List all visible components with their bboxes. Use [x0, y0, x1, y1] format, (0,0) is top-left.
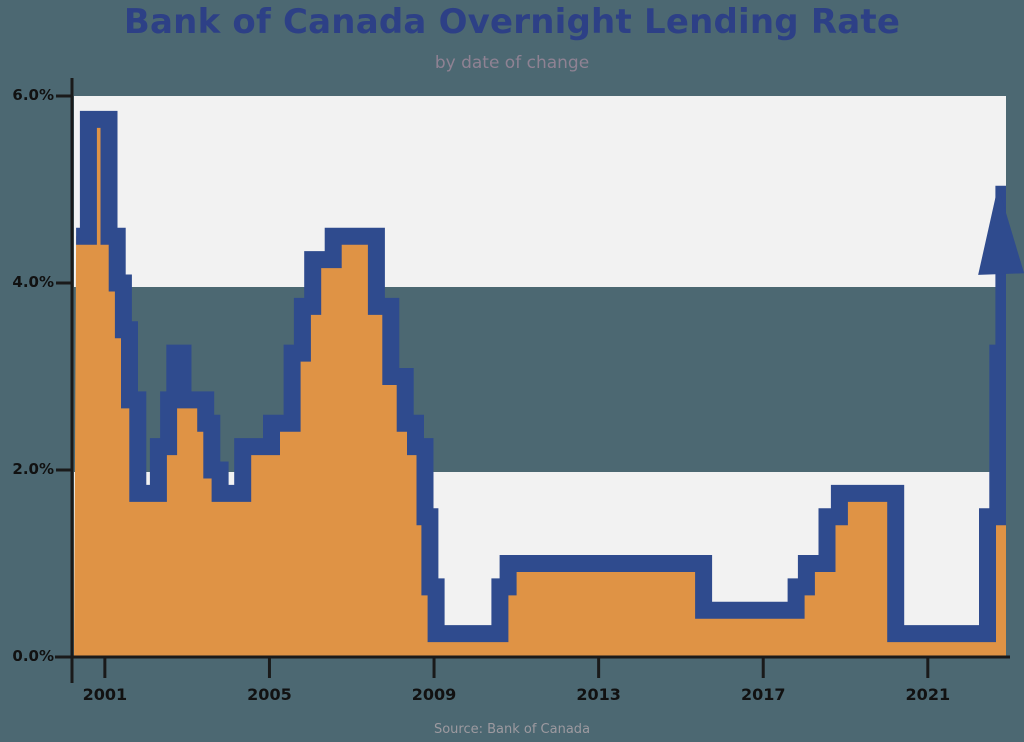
chart-plot-area — [0, 0, 1024, 742]
y-axis-tick-label: 6.0% — [0, 86, 54, 104]
x-tick-marks — [105, 657, 928, 678]
y-axis-tick-label: 0.0% — [0, 647, 54, 665]
y-axis-tick-label: 2.0% — [0, 460, 54, 478]
x-axis-tick-label: 2001 — [70, 685, 140, 704]
x-axis-tick-label: 2005 — [234, 685, 304, 704]
y-tick-marks — [56, 96, 72, 657]
x-axis-tick-label: 2017 — [728, 685, 798, 704]
source-note: Source: Bank of Canada — [0, 722, 1024, 737]
y-axis-tick-label: 4.0% — [0, 273, 54, 291]
chart-container: Bank of Canada Overnight Lending Rate by… — [0, 0, 1024, 742]
x-axis-tick-label: 2021 — [893, 685, 963, 704]
x-axis-tick-label: 2009 — [399, 685, 469, 704]
x-axis-tick-label: 2013 — [564, 685, 634, 704]
